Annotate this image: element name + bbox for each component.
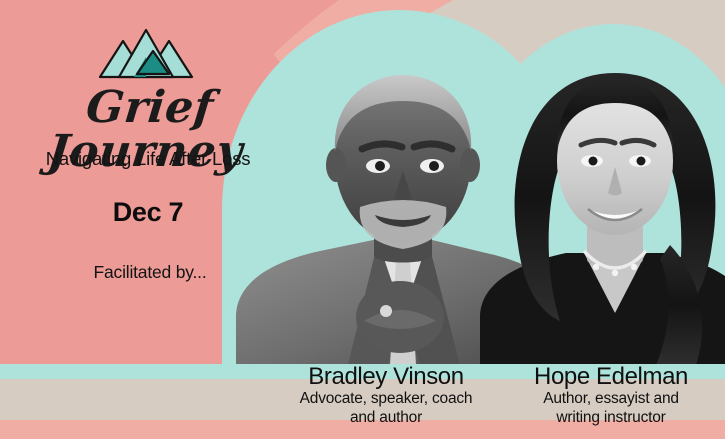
mountain-range-icon (96, 27, 196, 82)
portrait-hope-edelman (474, 45, 725, 365)
speaker-role-line-1: Author, essayist and (497, 390, 725, 408)
speaker-caption-bradley: Bradley Vinson Advocate, speaker, coach … (255, 364, 517, 427)
speaker-caption-hope: Hope Edelman Author, essayist and writin… (497, 364, 725, 427)
event-date: Dec 7 (58, 197, 238, 228)
speaker-name: Bradley Vinson (255, 364, 517, 389)
speaker-name: Hope Edelman (497, 364, 725, 389)
event-promo-graphic: Grief Journey Navigating Life After Loss… (0, 0, 725, 439)
brand-subtitle: Navigating Life After Loss (18, 148, 278, 170)
speaker-role-line-2: and author (255, 409, 517, 427)
speaker-role-line-1: Advocate, speaker, coach (255, 390, 517, 408)
facilitator-intro: Facilitated by... (40, 262, 260, 283)
speaker-role-line-2: writing instructor (497, 409, 725, 427)
